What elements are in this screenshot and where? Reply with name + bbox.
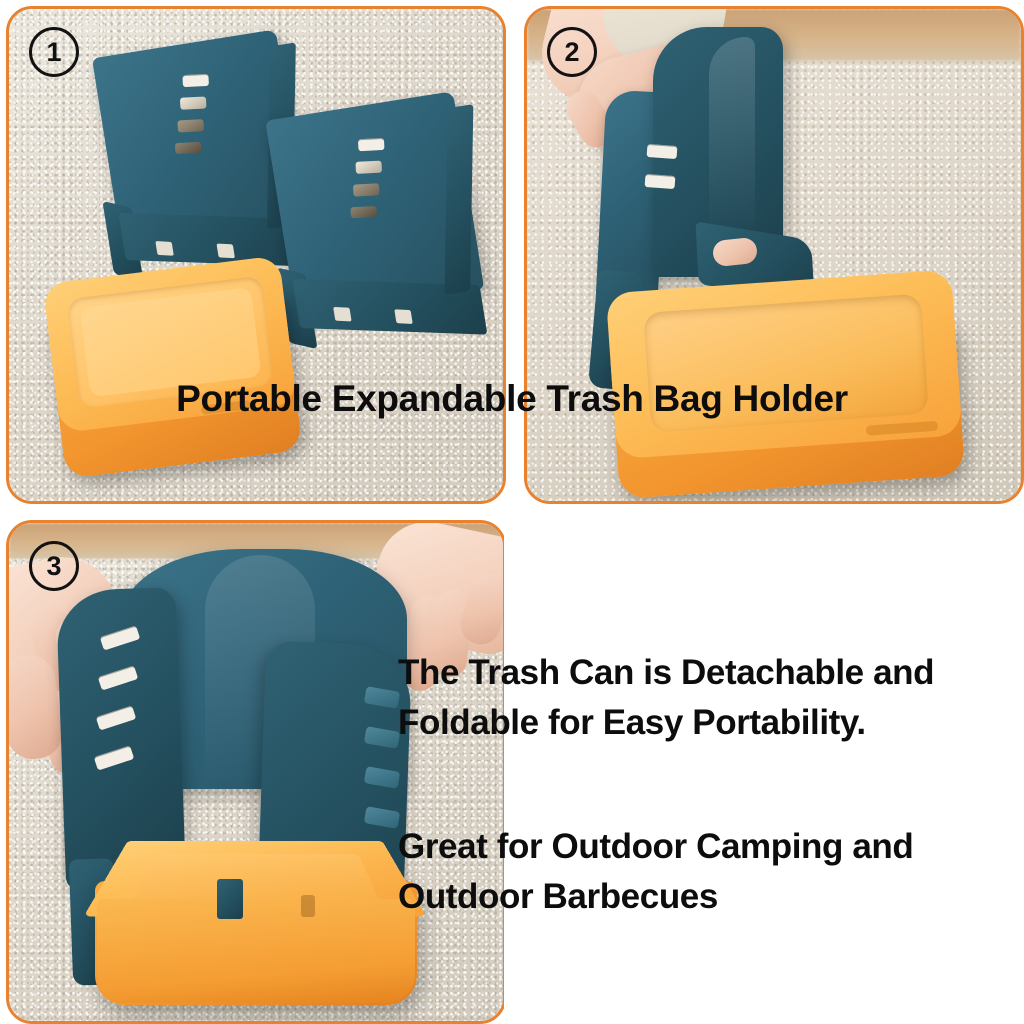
feature-line-2b: Outdoor Barbecues — [398, 872, 1022, 922]
product-panel-3: 3 — [6, 520, 506, 1024]
step-badge-2: 2 — [547, 27, 597, 77]
product-panel-2: 2 — [524, 6, 1024, 504]
panel-2-photo — [527, 9, 1021, 501]
step-number-2: 2 — [564, 39, 579, 66]
panel-3-photo — [9, 523, 503, 1021]
feature-line-1a: The Trash Can is Detachable and — [398, 648, 1022, 698]
page-title: Portable Expandable Trash Bag Holder — [0, 378, 1024, 420]
orange-base-tray — [85, 773, 433, 1023]
panel-1-photo — [9, 9, 503, 501]
product-panel-1: 1 — [6, 6, 506, 504]
feature-text-block-2: Great for Outdoor Camping and Outdoor Ba… — [398, 822, 1022, 921]
step-number-3: 3 — [46, 553, 61, 580]
right-white-area — [504, 504, 1024, 1024]
infographic-canvas: 1 — [0, 0, 1024, 1024]
step-badge-1: 1 — [29, 27, 79, 77]
feature-text-block-1: The Trash Can is Detachable and Foldable… — [398, 648, 1022, 747]
step-badge-3: 3 — [29, 541, 79, 591]
orange-base-tray — [36, 249, 312, 504]
feature-line-1b: Foldable for Easy Portability. — [398, 698, 1022, 748]
step-number-1: 1 — [46, 39, 61, 66]
feature-line-2a: Great for Outdoor Camping and — [398, 822, 1022, 872]
